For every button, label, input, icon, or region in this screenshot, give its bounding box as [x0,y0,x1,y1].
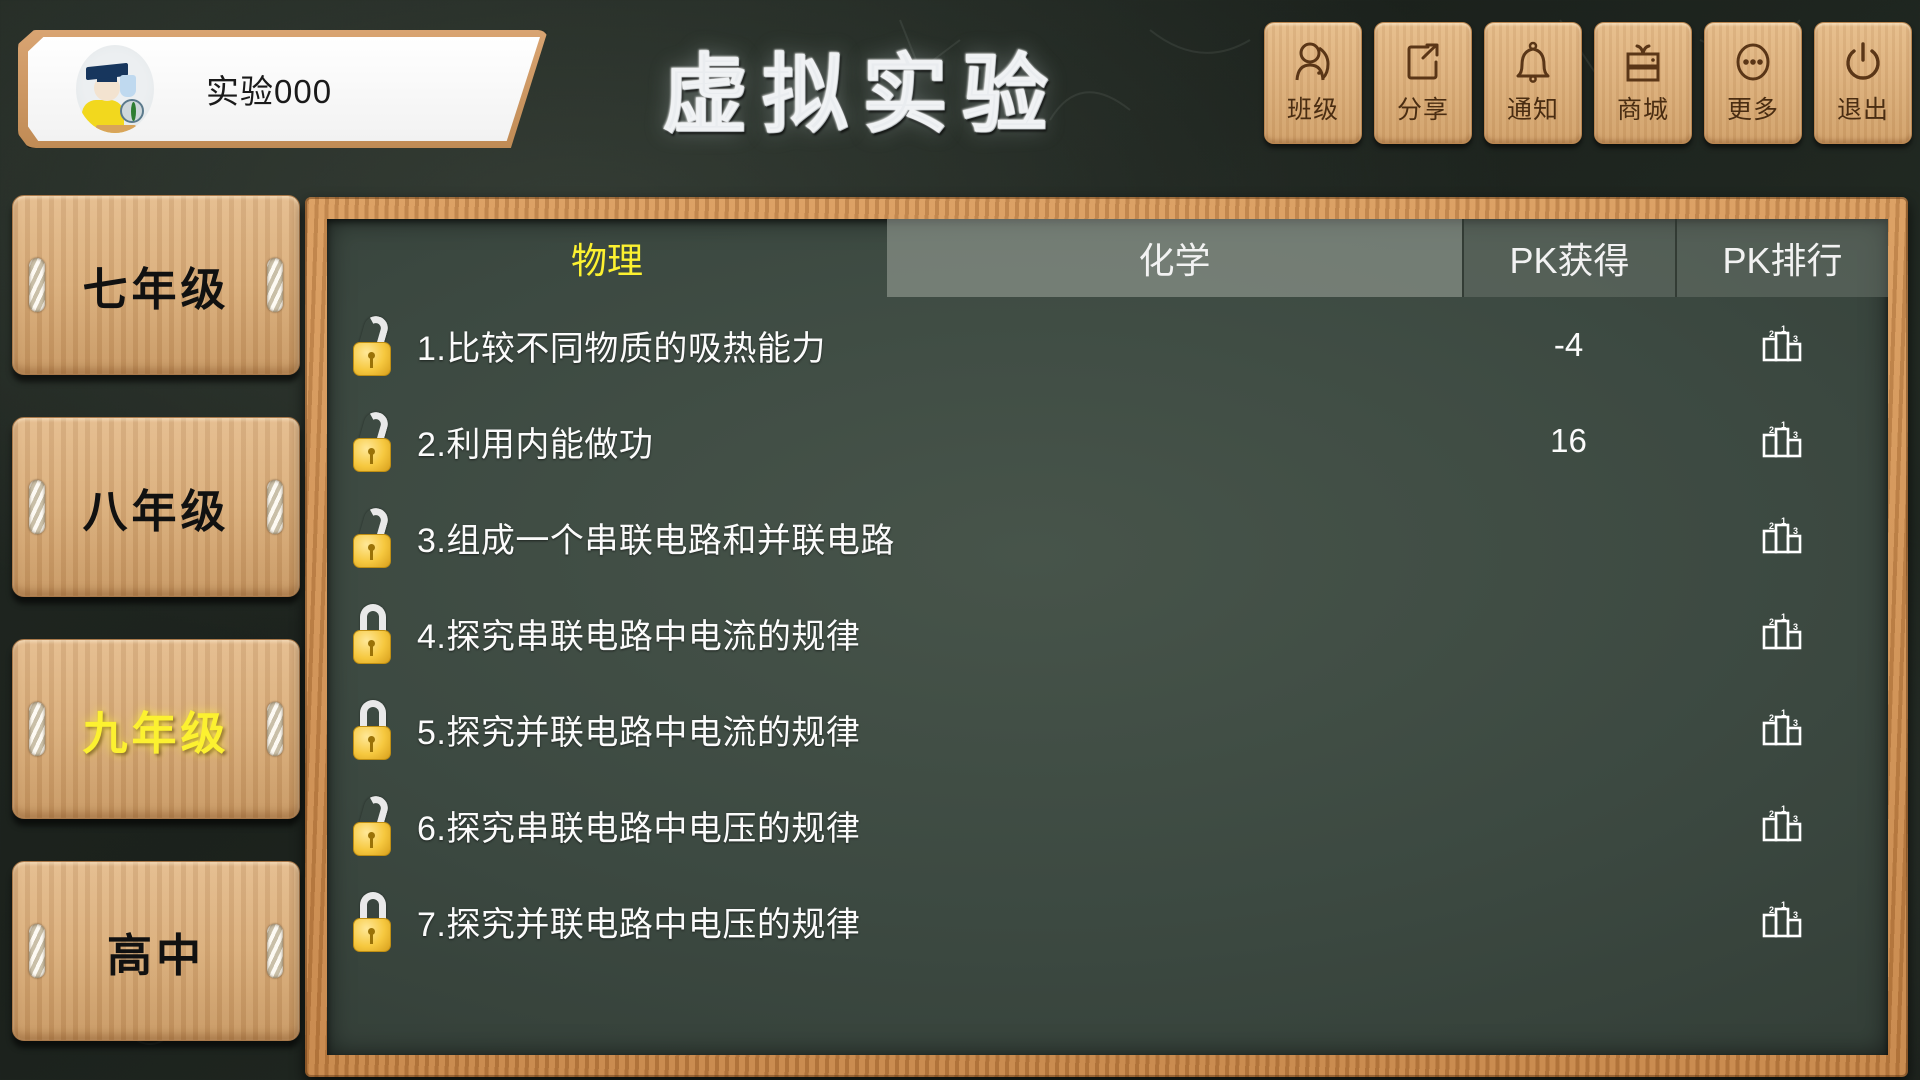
rope-grommet-right [267,258,283,312]
svg-text:3: 3 [1793,526,1798,536]
sidebar-label-grade9: 九年级 [82,697,229,762]
lock-open-icon [349,796,395,854]
app-header: 实验000 虚拟实验 班级 分享 [0,0,1920,175]
toolbar-button-notice[interactable]: 通知 [1484,22,1582,144]
power-icon [1843,40,1883,84]
sidebar-label-grade8: 八年级 [82,475,229,540]
gift-icon [1623,40,1663,84]
svg-text:3: 3 [1793,622,1798,632]
rope-grommet-left [29,480,45,534]
toolbar-button-share[interactable]: 分享 [1374,22,1472,144]
svg-text:3: 3 [1793,910,1798,920]
share-icon [1403,40,1443,84]
svg-text:2: 2 [1769,521,1774,531]
sidebar-item-grade7[interactable]: 七年级 [12,195,300,375]
podium-icon: 2 1 3 [1759,514,1805,560]
pk-rank-button[interactable]: 2 1 3 [1675,610,1888,656]
top-toolbar: 班级 分享 通知 商城 [1264,22,1912,144]
toolbar-button-exit[interactable]: 退出 [1814,22,1912,144]
experiment-list: 1.比较不同物质的吸热能力 -4 2 1 3 2.利用内能做功 16 [327,297,1888,1055]
pk-score-value: -4 [1462,326,1675,364]
rope-grommet-right [267,924,283,978]
svg-text:2: 2 [1769,905,1774,915]
toolbar-label-shop: 商城 [1617,90,1669,126]
podium-icon: 2 1 3 [1759,898,1805,944]
svg-text:3: 3 [1793,814,1798,824]
podium-icon: 2 1 3 [1759,802,1805,848]
podium-icon: 2 1 3 [1759,322,1805,368]
pk-score-value: 16 [1462,422,1675,460]
pk-rank-button[interactable]: 2 1 3 [1675,706,1888,752]
experiment-row[interactable]: 4.探究串联电路中电流的规律 2 1 3 [327,585,1888,681]
rope-grommet-right [267,480,283,534]
sidebar-item-highschool[interactable]: 高中 [12,861,300,1041]
tab-physics[interactable]: 物理 [327,219,887,297]
column-header-pk-rank: PK排行 [1675,219,1888,297]
pk-rank-button[interactable]: 2 1 3 [1675,514,1888,560]
experiment-row[interactable]: 1.比较不同物质的吸热能力 -4 2 1 3 [327,297,1888,393]
toolbar-label-share: 分享 [1397,90,1449,126]
svg-text:2: 2 [1769,425,1774,435]
toolbar-label-class: 班级 [1287,90,1339,126]
lock-open-icon [349,412,395,470]
experiment-row[interactable]: 2.利用内能做功 16 2 1 3 [327,393,1888,489]
rope-grommet-left [29,924,45,978]
lock-closed-icon [349,700,395,758]
chalkboard-panel: 物理 化学 PK获得 PK排行 1.比较不同物质的吸热能力 -4 2 1 3 [305,197,1908,1077]
toolbar-button-class[interactable]: 班级 [1264,22,1362,144]
column-header-pk-score: PK获得 [1462,219,1675,297]
rope-grommet-right [267,702,283,756]
sidebar-label-highschool: 高中 [107,919,205,984]
toolbar-button-shop[interactable]: 商城 [1594,22,1692,144]
svg-text:3: 3 [1793,334,1798,344]
lock-open-icon [349,508,395,566]
student-avatar-icon [76,45,154,133]
experiment-title: 2.利用内能做功 [417,417,653,466]
podium-icon: 2 1 3 [1759,418,1805,464]
podium-icon: 2 1 3 [1759,610,1805,656]
pk-rank-button[interactable]: 2 1 3 [1675,898,1888,944]
podium-icon: 2 1 3 [1759,706,1805,752]
lock-closed-icon [349,892,395,950]
pk-rank-button[interactable]: 2 1 3 [1675,418,1888,464]
experiment-title: 7.探究并联电路中电压的规律 [417,897,860,946]
subject-tabs: 物理 化学 PK获得 PK排行 [327,219,1888,297]
sidebar-item-grade8[interactable]: 八年级 [12,417,300,597]
lock-closed-icon [349,604,395,662]
experiment-title: 4.探究串联电路中电流的规律 [417,609,860,658]
svg-text:2: 2 [1769,617,1774,627]
username-label: 实验000 [206,65,332,113]
toolbar-button-more[interactable]: 更多 [1704,22,1802,144]
experiment-row[interactable]: 7.探究并联电路中电压的规律 2 1 3 [327,873,1888,969]
toolbar-label-more: 更多 [1727,90,1779,126]
lock-open-icon [349,316,395,374]
grade-sidebar: 七年级 八年级 九年级 高中 [12,195,302,1080]
experiment-title: 6.探究串联电路中电压的规律 [417,801,860,850]
svg-text:3: 3 [1793,718,1798,728]
tab-chemistry[interactable]: 化学 [887,219,1462,297]
experiment-row[interactable]: 6.探究串联电路中电压的规律 2 1 3 [327,777,1888,873]
experiment-title: 5.探究并联电路中电流的规律 [417,705,860,754]
pk-rank-button[interactable]: 2 1 3 [1675,802,1888,848]
pk-rank-button[interactable]: 2 1 3 [1675,322,1888,368]
svg-text:2: 2 [1769,713,1774,723]
app-title: 虚拟实验 [592,16,1132,156]
person-icon [1293,40,1333,84]
experiment-title: 3.组成一个串联电路和并联电路 [417,513,895,562]
svg-text:3: 3 [1793,430,1798,440]
toolbar-label-notice: 通知 [1507,90,1559,126]
ellipsis-circle-icon [1733,40,1773,84]
bell-icon [1513,40,1553,84]
experiment-row[interactable]: 3.组成一个串联电路和并联电路 2 1 3 [327,489,1888,585]
svg-text:2: 2 [1769,809,1774,819]
rope-grommet-left [29,702,45,756]
experiment-title: 1.比较不同物质的吸热能力 [417,321,826,370]
user-nameplate[interactable]: 实验000 [18,30,548,148]
toolbar-label-exit: 退出 [1837,90,1889,126]
sidebar-label-grade7: 七年级 [82,253,229,318]
sidebar-item-grade9[interactable]: 九年级 [12,639,300,819]
experiment-row[interactable]: 5.探究并联电路中电流的规律 2 1 3 [327,681,1888,777]
svg-text:2: 2 [1769,329,1774,339]
rope-grommet-left [29,258,45,312]
